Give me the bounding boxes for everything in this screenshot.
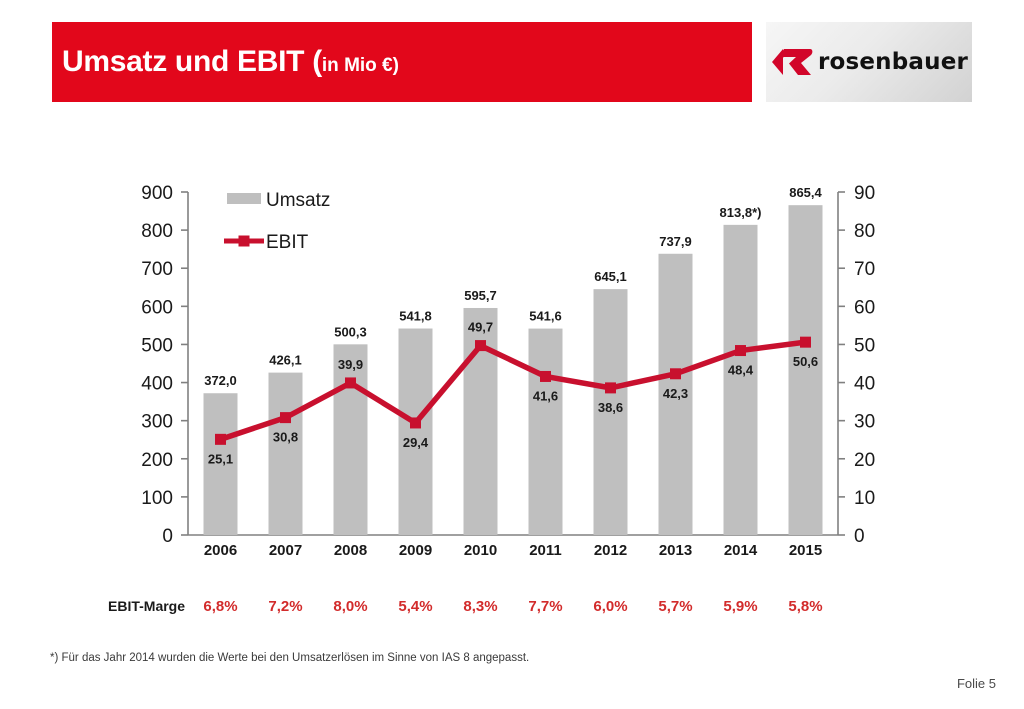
right-axis-tick-label: 20 <box>854 450 875 471</box>
legend-label-ebit: EBIT <box>266 232 309 253</box>
ebit-margin-value: 5,7% <box>658 598 692 615</box>
bar-umsatz <box>529 329 563 535</box>
category-label: 2014 <box>724 542 758 559</box>
left-axis-tick-label: 400 <box>141 374 173 395</box>
ebit-marker <box>800 337 811 348</box>
ebit-marker <box>605 382 616 393</box>
bar-value-label: 541,6 <box>529 309 562 324</box>
ebit-margin-value: 5,9% <box>723 598 757 615</box>
bar-value-label: 865,4 <box>789 185 822 200</box>
ebit-value-label: 41,6 <box>533 388 558 403</box>
ebit-value-label: 25,1 <box>208 451 233 466</box>
ebit-margin-value: 5,8% <box>788 598 822 615</box>
category-label: 2013 <box>659 542 692 559</box>
legend-label-umsatz: Umsatz <box>266 190 330 211</box>
right-axis-tick-label: 80 <box>854 221 875 242</box>
ebit-marker <box>345 377 356 388</box>
right-axis-tick-label: 90 <box>854 183 875 204</box>
ebit-marker <box>735 345 746 356</box>
right-axis-tick-label: 0 <box>854 526 865 547</box>
bar-value-label: 737,9 <box>659 234 692 249</box>
slide-number: Folie 5 <box>957 676 996 691</box>
ebit-margin-value: 6,0% <box>593 598 627 615</box>
ebit-margin-value: 6,8% <box>203 598 237 615</box>
ebit-value-label: 38,6 <box>598 400 623 415</box>
category-label: 2015 <box>789 542 822 559</box>
left-axis-tick-label: 900 <box>141 183 173 204</box>
ebit-line <box>221 342 806 439</box>
category-label: 2006 <box>204 542 237 559</box>
ebit-marker <box>280 412 291 423</box>
right-axis: 0102030405060708090 <box>838 183 875 547</box>
right-axis-tick-label: 30 <box>854 412 875 433</box>
ebit-margin-value: 7,7% <box>528 598 562 615</box>
ebit-value-label: 48,4 <box>728 363 754 378</box>
category-label: 2010 <box>464 542 497 559</box>
left-axis-tick-label: 800 <box>141 221 173 242</box>
left-axis-tick-label: 300 <box>141 412 173 433</box>
category-label: 2008 <box>334 542 367 559</box>
ebit-marker <box>215 434 226 445</box>
ebit-margin-value: 8,3% <box>463 598 497 615</box>
right-axis-tick-label: 50 <box>854 335 875 356</box>
right-axis-tick-label: 60 <box>854 297 875 318</box>
legend-swatch-umsatz <box>227 193 261 204</box>
left-axis-tick-label: 100 <box>141 488 173 509</box>
bar-umsatz <box>399 329 433 535</box>
ebit-marker <box>670 368 681 379</box>
ebit-value-label: 29,4 <box>403 435 429 450</box>
category-label: 2009 <box>399 542 432 559</box>
ebit-marker <box>410 417 421 428</box>
footnote-text: *) Für das Jahr 2014 wurden die Werte be… <box>50 652 529 664</box>
left-axis-tick-label: 700 <box>141 259 173 280</box>
ebit-margin-label: EBIT-Marge <box>108 598 185 614</box>
right-axis-tick-label: 40 <box>854 374 875 395</box>
right-axis-tick-label: 70 <box>854 259 875 280</box>
bar-umsatz <box>789 205 823 535</box>
left-axis-tick-label: 0 <box>162 526 173 547</box>
category-axis: 2006200720082009201020112012201320142015 <box>204 542 822 559</box>
bar-value-label: 426,1 <box>269 353 302 368</box>
ebit-value-label: 39,9 <box>338 357 363 372</box>
bar-umsatz <box>269 373 303 535</box>
left-axis-tick-label: 500 <box>141 335 173 356</box>
ebit-margin-value: 5,4% <box>398 598 432 615</box>
ebit-marker <box>540 371 551 382</box>
category-label: 2011 <box>529 542 562 559</box>
ebit-value-label: 42,3 <box>663 386 688 401</box>
ebit-value-label: 49,7 <box>468 320 493 335</box>
bar-value-label: 372,0 <box>204 373 237 388</box>
ebit-value-label: 30,8 <box>273 430 298 445</box>
legend-marker-ebit <box>239 236 250 247</box>
bar-value-label: 813,8*) <box>720 205 762 220</box>
bar-umsatz <box>724 225 758 535</box>
bar-value-label: 645,1 <box>594 269 627 284</box>
ebit-marker <box>475 340 486 351</box>
bar-value-label: 541,8 <box>399 309 432 324</box>
category-label: 2012 <box>594 542 627 559</box>
ebit-margin-value: 7,2% <box>268 598 302 615</box>
bar-umsatz <box>334 344 368 535</box>
ebit-margin-row: EBIT-Marge 6,8%7,2%8,0%5,4%8,3%7,7%6,0%5… <box>0 598 1024 624</box>
ebit-value-label: 50,6 <box>793 354 818 369</box>
bar-value-label: 595,7 <box>464 288 497 303</box>
left-axis-tick-label: 200 <box>141 450 173 471</box>
category-label: 2007 <box>269 542 302 559</box>
bar-value-label: 500,3 <box>334 324 367 339</box>
chart-legend: UmsatzEBIT <box>224 190 330 253</box>
left-axis-tick-label: 600 <box>141 297 173 318</box>
right-axis-tick-label: 10 <box>854 488 875 509</box>
ebit-margin-value: 8,0% <box>333 598 367 615</box>
